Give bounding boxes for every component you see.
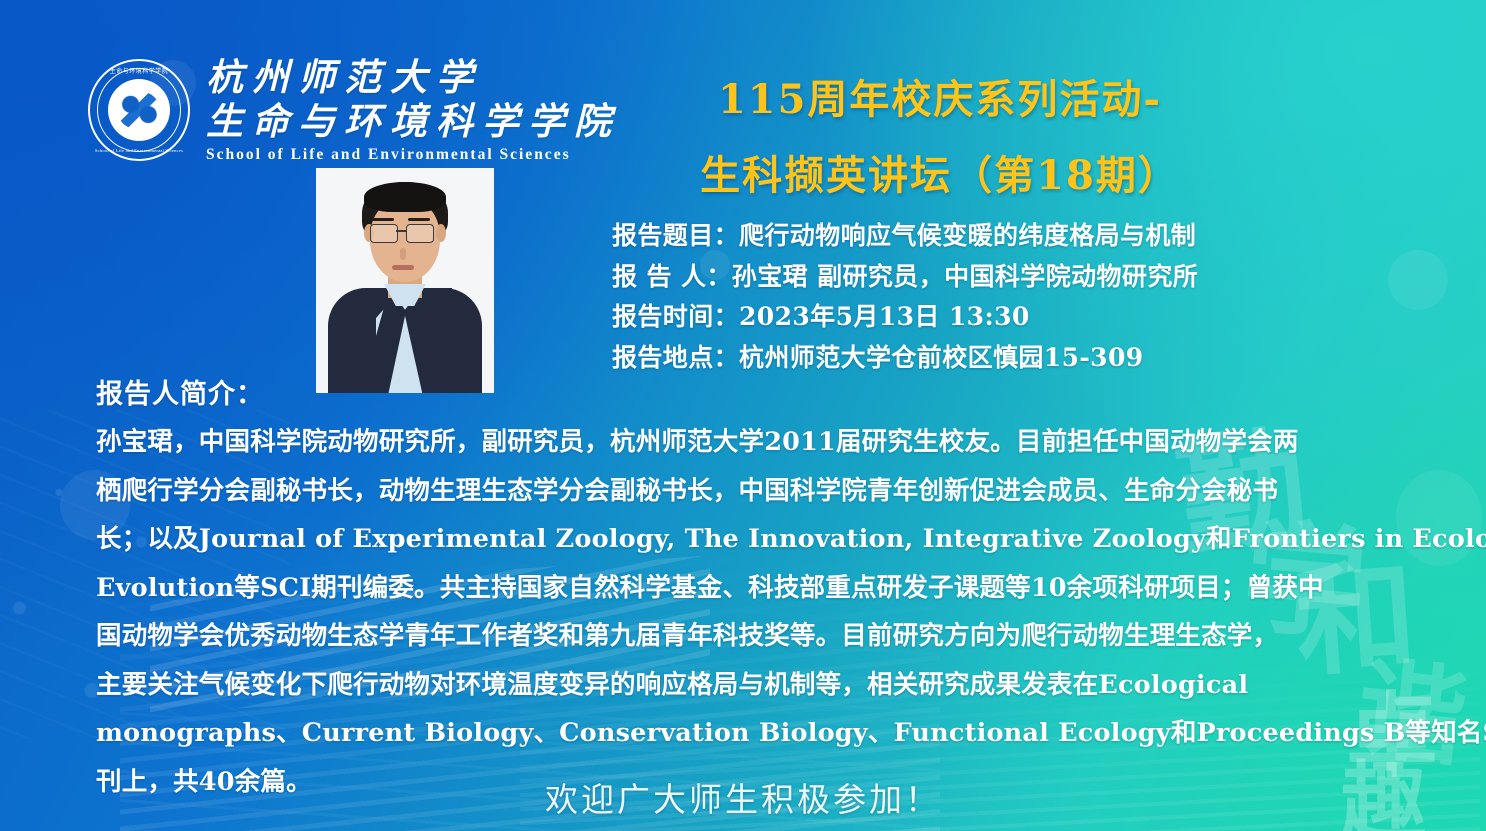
logo-name-stack: 杭州师范大学 生命与环境科学学院 School of Life and Envi… [206,56,620,164]
bio-heading: 报告人简介： [96,372,264,411]
bio-line: Evolution等SCI期刊编委。共主持国家自然科学基金、科技部重点研发子课题… [96,564,1396,613]
poster-title-block: 115周年校庆系列活动- 生科撷英讲坛（第18期） [620,62,1260,214]
school-seal-icon: 生命与环境科学学院 School of Life and Environment… [88,59,190,161]
photo-brow-right [408,218,430,221]
seal-bottom-text: School of Life and Environmental Science… [90,148,188,153]
seal-top-text: 生命与环境科学学院 [90,66,188,75]
bio-line: 主要关注气候变化下爬行动物对环境温度变异的响应格局与机制等，相关研究成果发表在E… [96,661,1396,710]
welcome-message: 欢迎广大师生积极参加！ [0,773,1486,821]
university-logo-block: 生命与环境科学学院 School of Life and Environment… [88,56,620,164]
talk-speaker-line: 报 告 人：孙宝珺 副研究员，中国科学院动物研究所 [612,257,1392,298]
college-name-cn: 生命与环境科学学院 [206,100,620,144]
photo-ear-right [436,224,446,242]
university-name-cn: 杭州师范大学 [206,56,620,100]
glasses-icon-right [406,224,434,243]
decorative-bubble [1388,250,1448,310]
bio-line: 国动物学会优秀动物生态学青年工作者奖和第九届青年科技奖等。目前研究方向为爬行动物… [96,612,1396,661]
talk-topic-line: 报告题目：爬行动物响应气候变暖的纬度格局与机制 [612,216,1392,257]
photo-nose [400,248,406,260]
glasses-icon-left [370,224,398,243]
photo-brow-left [372,218,394,221]
talk-info-block: 报告题目：爬行动物响应气候变暖的纬度格局与机制 报 告 人：孙宝珺 副研究员，中… [612,216,1392,378]
photo-fringe [364,182,446,212]
glasses-bridge [396,230,406,232]
bio-line: 孙宝珺，中国科学院动物研究所，副研究员，杭州师范大学2011届研究生校友。目前担… [96,418,1396,467]
bio-body: 孙宝珺，中国科学院动物研究所，副研究员，杭州师范大学2011届研究生校友。目前担… [96,418,1396,806]
bio-line: 长；以及Journal of Experimental Zoology, The… [96,515,1396,564]
poster-title-line-1: 115周年校庆系列活动- [620,62,1260,138]
photo-mouth [392,265,414,270]
poster-title-line-2: 生科撷英讲坛（第18期） [620,138,1260,214]
seal-emblem-icon [108,79,170,141]
college-name-en: School of Life and Environmental Science… [206,146,620,164]
talk-time-line: 报告时间：2023年5月13日 13:30 [612,297,1392,338]
poster-canvas: 勤 学 和 谐 卓 趣 生命与环境科学学院 School of Life and… [0,0,1486,831]
speaker-photo [316,168,494,393]
bio-line: 栖爬行学分会副秘书长，动物生理生态学分会副秘书长，中国科学院青年创新促进会成员、… [96,467,1396,516]
bio-line: monographs、Current Biology、Conservation … [96,709,1396,758]
talk-location-line: 报告地点：杭州师范大学仓前校区慎园15-309 [612,338,1392,379]
